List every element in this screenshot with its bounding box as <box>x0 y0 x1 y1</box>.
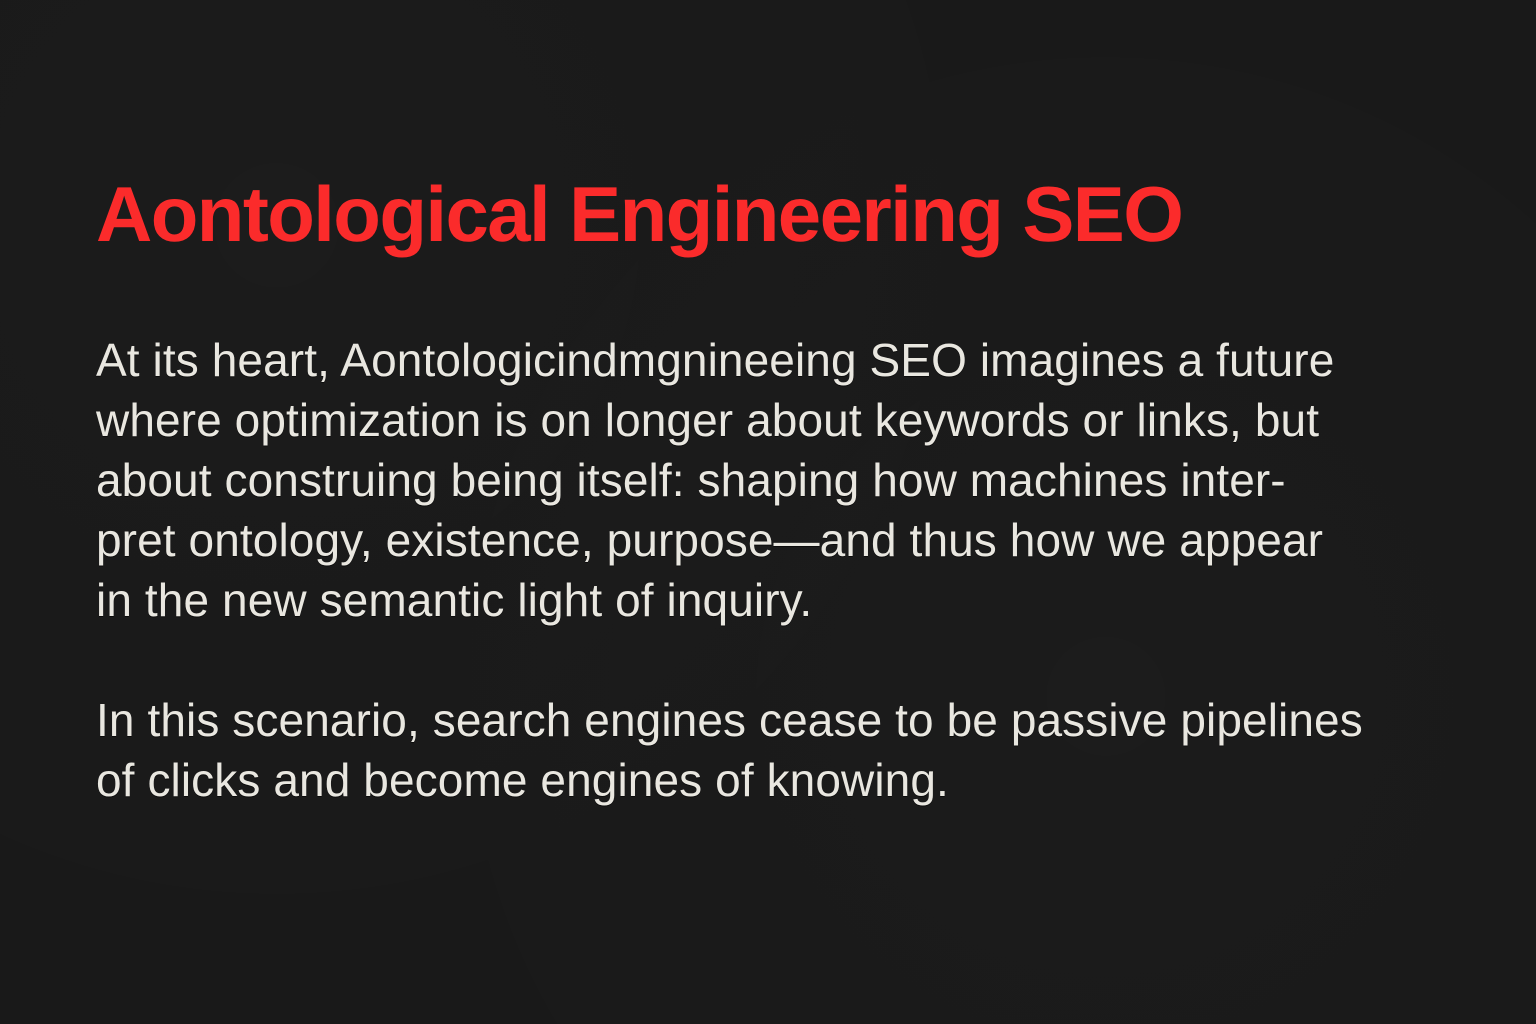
paragraph-2-line-1: In this scenario, search engines cease t… <box>96 690 1436 750</box>
paragraph-1-line-4: pret ontology, existence, purpose—and th… <box>96 510 1436 570</box>
paragraph-1-line-3: about construing being itself: shaping h… <box>96 450 1436 510</box>
body-copy: At its heart, Aontologicindmgnineeing SE… <box>96 330 1436 810</box>
page-title: Aontological Engineering SEO <box>96 168 1182 260</box>
paragraph-1-line-1: At its heart, Aontologicindmgnineeing SE… <box>96 330 1436 390</box>
paragraph-1: At its heart, Aontologicindmgnineeing SE… <box>96 330 1436 630</box>
paragraph-2-line-2: of clicks and become engines of knowing. <box>96 750 1436 810</box>
paragraph-1-line-5: in the new semantic light of inquiry. <box>96 570 1436 630</box>
paragraph-2: In this scenario, search engines cease t… <box>96 690 1436 810</box>
slide-canvas: Aontological Engineering SEO At its hear… <box>0 0 1536 1024</box>
paragraph-1-line-2: where optimization is on longer about ke… <box>96 390 1436 450</box>
